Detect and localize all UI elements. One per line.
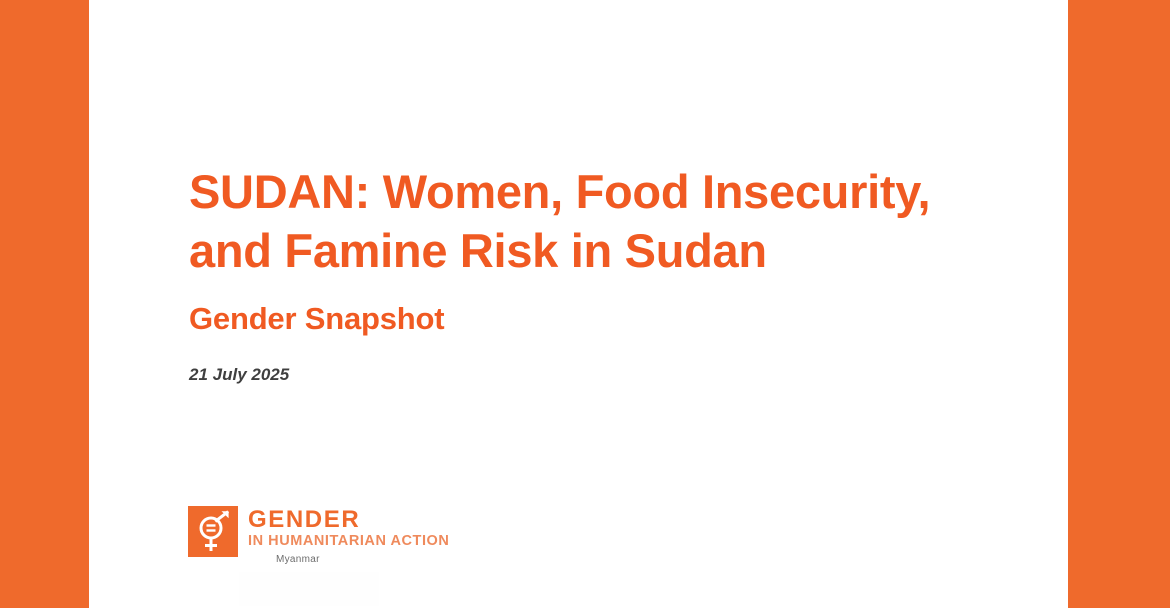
page-subtitle: Gender Snapshot xyxy=(189,280,1019,338)
slide-cover: SUDAN: Women, Food Insecurity, and Famin… xyxy=(0,0,1170,608)
logo-secondary-line: IN HUMANITARIAN ACTION xyxy=(248,532,449,550)
publication-date: 21 July 2025 xyxy=(189,338,1019,386)
decorative-band-right xyxy=(1068,0,1170,608)
logo-primary-word: GENDER xyxy=(248,507,449,532)
slide-canvas: SUDAN: Women, Food Insecurity, and Famin… xyxy=(89,0,1068,608)
logo-country-label: Myanmar xyxy=(248,550,449,566)
organization-logo: GENDER IN HUMANITARIAN ACTION Myanmar xyxy=(188,506,449,566)
decorative-band-left xyxy=(0,0,89,608)
title-block: SUDAN: Women, Food Insecurity, and Famin… xyxy=(189,162,1019,386)
page-title: SUDAN: Women, Food Insecurity, and Famin… xyxy=(189,162,1019,280)
faint-watermark xyxy=(239,572,379,606)
gender-equality-symbol-icon xyxy=(188,506,238,557)
logo-wordmark: GENDER IN HUMANITARIAN ACTION Myanmar xyxy=(248,506,449,566)
